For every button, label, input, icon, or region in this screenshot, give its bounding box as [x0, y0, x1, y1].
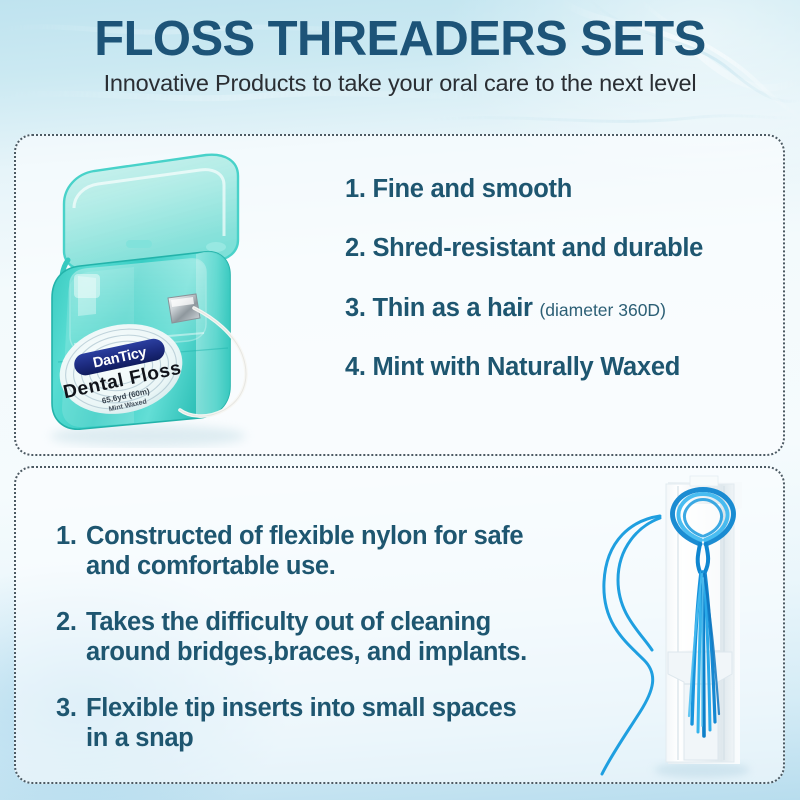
feature-item-4: 4. Mint with Naturally Waxed [345, 353, 777, 382]
benefit-item-3: 3. Flexible tip inserts into small space… [56, 694, 601, 753]
page-title: FLOSS THREADERS SETS [0, 14, 800, 65]
feature-text-1: Fine and smooth [372, 175, 572, 203]
feature-item-1: 1. Fine and smooth [345, 175, 777, 204]
benefit-line2-2: around bridges,braces, and implants. [86, 638, 527, 666]
feature-text-2: Shred-resistant and durable [372, 234, 703, 262]
feature-item-3: 3. Thin as a hair (diameter 360D) [345, 294, 777, 323]
feature-number-3: 3. [345, 294, 366, 322]
header: FLOSS THREADERS SETS Innovative Products… [0, 14, 800, 97]
benefit-item-1: 1. Constructed of flexible nylon for saf… [56, 522, 601, 581]
benefit-line1-2: Takes the difficulty out of cleaning [86, 608, 491, 636]
floss-threaders-image [592, 474, 788, 784]
feature-number-2: 2. [345, 234, 366, 262]
dental-floss-container-image: DanTicy Dental Floss 65.6yd (60m) Mint W… [28, 148, 328, 448]
benefit-line2-3: in a snap [86, 724, 193, 752]
benefit-line2-1: and comfortable use. [86, 552, 335, 580]
benefit-item-2: 2. Takes the difficulty out of cleaning … [56, 608, 601, 667]
feature-number-4: 4. [345, 353, 366, 381]
infographic-page: FLOSS THREADERS SETS Innovative Products… [0, 0, 800, 800]
feature-list: 1. Fine and smooth 2. Shred-resistant an… [345, 175, 777, 382]
benefit-list: 1. Constructed of flexible nylon for saf… [56, 522, 601, 753]
feature-note-3: (diameter 360D) [539, 300, 665, 320]
benefit-number-2: 2. [56, 608, 77, 638]
feature-text-4: Mint with Naturally Waxed [372, 353, 680, 381]
single-threader [602, 516, 660, 774]
benefit-line1-3: Flexible tip inserts into small spaces [86, 694, 516, 722]
feature-number-1: 1. [345, 175, 366, 203]
feature-item-2: 2. Shred-resistant and durable [345, 234, 777, 263]
page-subtitle: Innovative Products to take your oral ca… [0, 70, 800, 97]
feature-text-3: Thin as a hair [372, 294, 532, 322]
benefit-number-3: 3. [56, 694, 77, 724]
benefit-line1-1: Constructed of flexible nylon for safe [86, 522, 523, 550]
benefit-number-1: 1. [56, 522, 77, 552]
